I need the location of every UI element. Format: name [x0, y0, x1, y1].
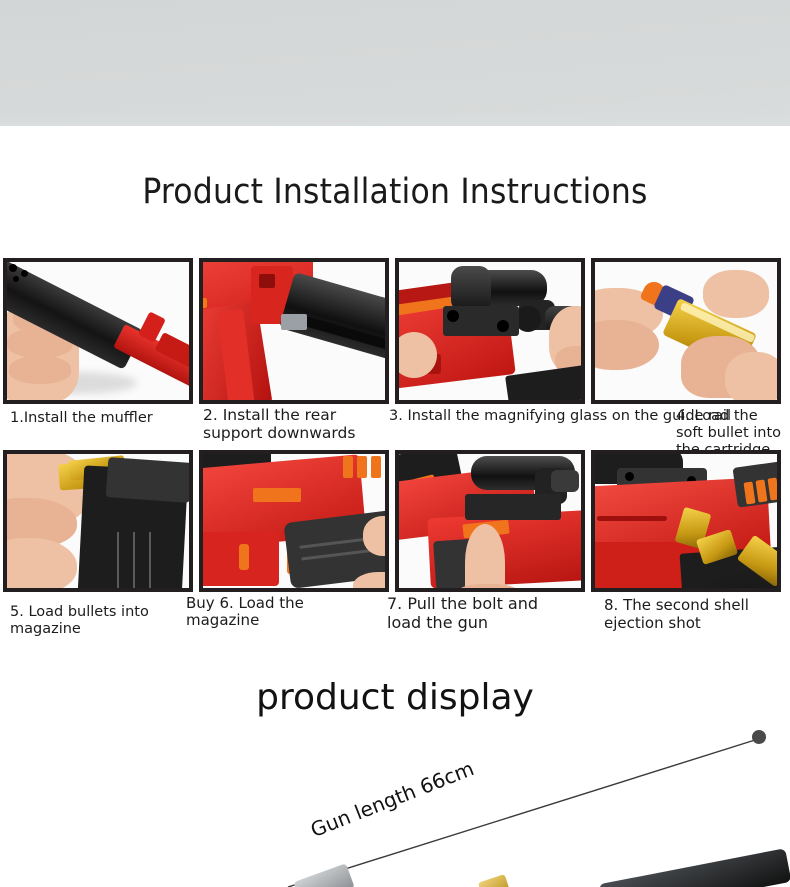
steps-row-1: 1.Install the muffler 2. Install the rea…	[0, 258, 790, 450]
step-image-2[interactable]	[199, 258, 389, 404]
step-caption-2: 2. Install the rear support downwards	[203, 406, 388, 442]
step-caption-1: 1.Install the muffler	[10, 410, 200, 427]
photo-pull-bolt	[399, 454, 581, 588]
captions-row-2: 5. Load bullets into magazine Buy 6. Loa…	[0, 592, 790, 638]
step-image-6[interactable]	[199, 450, 389, 592]
page-title: Product Installation Instructions	[0, 172, 790, 212]
product-detail-page: Product Installation Instructions	[0, 0, 790, 887]
photo-muffler-install	[7, 262, 189, 400]
photo-load-bullets-magazine	[7, 454, 189, 588]
steps-row-2: 5. Load bullets into magazine Buy 6. Loa…	[0, 450, 790, 638]
dimension-dot	[752, 730, 766, 744]
step-image-8[interactable]	[591, 450, 781, 592]
step-image-3[interactable]	[395, 258, 585, 404]
step-image-5[interactable]	[3, 450, 193, 592]
installation-steps-grid: 1.Install the muffler 2. Install the rea…	[0, 258, 790, 638]
photo-rear-support-install	[203, 262, 385, 400]
top-gray-band	[0, 0, 790, 126]
step-image-1[interactable]	[3, 258, 193, 404]
photo-shell-ejection	[595, 454, 777, 588]
photo-soft-bullet-load	[595, 262, 777, 400]
step-image-7[interactable]	[395, 450, 585, 592]
product-display-title: product display	[0, 676, 790, 720]
step-image-4[interactable]	[591, 258, 781, 404]
captions-row-1: 1.Install the muffler 2. Install the rea…	[0, 404, 790, 450]
step-caption-7: 7. Pull the bolt and load the gun	[387, 594, 587, 632]
photo-scope-install	[399, 262, 581, 400]
photo-insert-magazine	[203, 454, 385, 588]
step-caption-8: 8. The second shell ejection shot	[604, 596, 789, 632]
step-caption-6: Buy 6. Load the magazine	[186, 595, 366, 629]
